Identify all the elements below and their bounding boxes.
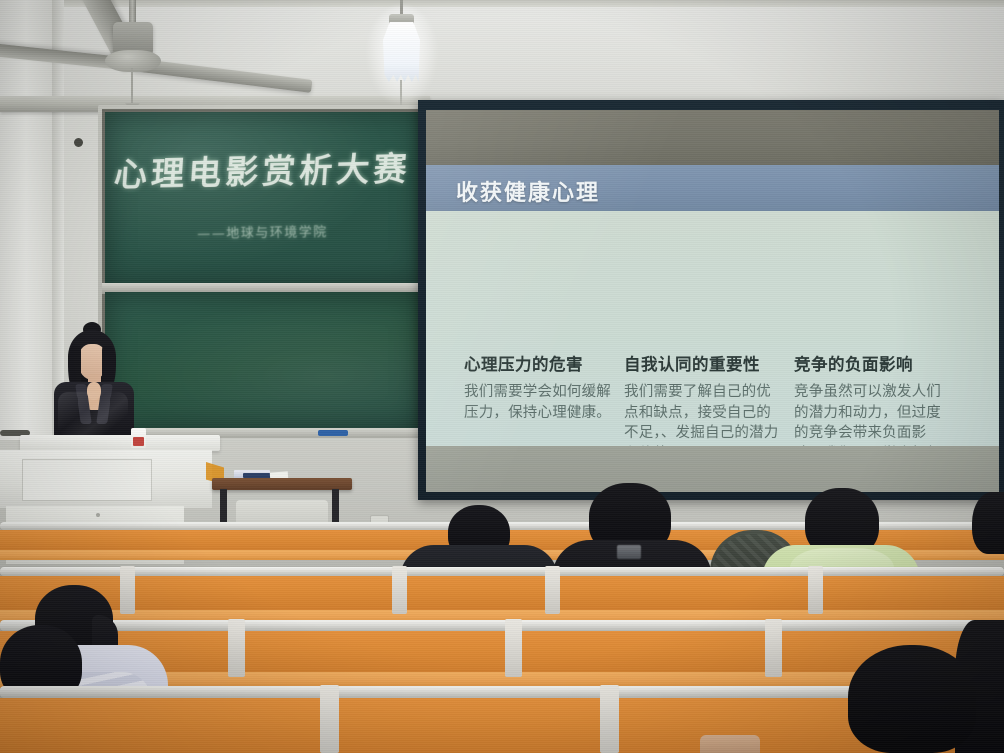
- presenter-hand: [87, 382, 101, 400]
- bench-post: [228, 619, 245, 677]
- bench-rail: [0, 620, 1004, 631]
- bench-desk-front: [0, 576, 1004, 612]
- desk-item[interactable]: [700, 735, 760, 753]
- blackboard-lower-panel: [105, 292, 421, 432]
- bench-post: [765, 619, 782, 677]
- bench-post: [600, 685, 619, 753]
- bench-post: [120, 566, 135, 614]
- bench-post: [320, 685, 339, 753]
- side-desk-top: [212, 478, 352, 490]
- wall-pillar: [0, 0, 58, 440]
- lecture-hall-photo: 心理电影赏析大赛 ——地球与环境学院 收获健康心理 心理压力的危害 我们需要学会…: [0, 0, 1004, 753]
- podium-top-surface: [20, 435, 220, 451]
- ceiling-fan-pull-chain[interactable]: [131, 68, 133, 108]
- paper-cup-band: [133, 437, 144, 446]
- slide-column: 心理压力的危害 我们需要学会如何缓解压力，保持心理健康。: [464, 351, 614, 423]
- bench-post: [505, 619, 522, 677]
- slide-bottom-band: [426, 446, 999, 492]
- ceiling-fan-rod: [129, 0, 136, 24]
- slide-title: 收获健康心理: [456, 175, 600, 207]
- podium-panel: [22, 459, 152, 501]
- slide-top-band: [426, 110, 999, 165]
- slide-column-heading: 自我认同的重要性: [624, 351, 784, 375]
- slide-column-heading: 竞争的负面影响: [794, 351, 949, 375]
- audience-head-edge: [972, 492, 1004, 554]
- slide-body: 心理压力的危害 我们需要学会如何缓解压力，保持心理健康。 自我认同的重要性 我们…: [426, 211, 999, 446]
- blackboard-upper-panel: [105, 112, 421, 285]
- slide-column-heading: 心理压力的危害: [464, 351, 614, 375]
- hoodie-shoulder-logo: [617, 545, 641, 559]
- wall-pillar-edge: [52, 0, 64, 440]
- pendant-lamp-shade: [383, 22, 420, 82]
- projection-screen-surface: 收获健康心理 心理压力的危害 我们需要学会如何缓解压力，保持心理健康。 自我认同…: [426, 110, 999, 492]
- wall-fixture-dot: [74, 138, 83, 147]
- bench-post: [545, 566, 560, 614]
- podium-latch[interactable]: [96, 513, 100, 517]
- bench-rail: [0, 567, 1004, 576]
- ceiling-fan-hub: [105, 50, 161, 72]
- bench-post: [392, 566, 407, 614]
- slide-column-body: 我们需要学会如何缓解压力，保持心理健康。: [464, 382, 614, 423]
- blackboard-title: 心理电影赏析大赛: [108, 142, 417, 196]
- audience-head: [848, 645, 976, 753]
- blackboard-eraser[interactable]: [318, 430, 348, 436]
- bench-post: [808, 566, 823, 614]
- pendant-lamp-lower-wire: [400, 80, 402, 106]
- ceiling-seam: [0, 0, 1004, 7]
